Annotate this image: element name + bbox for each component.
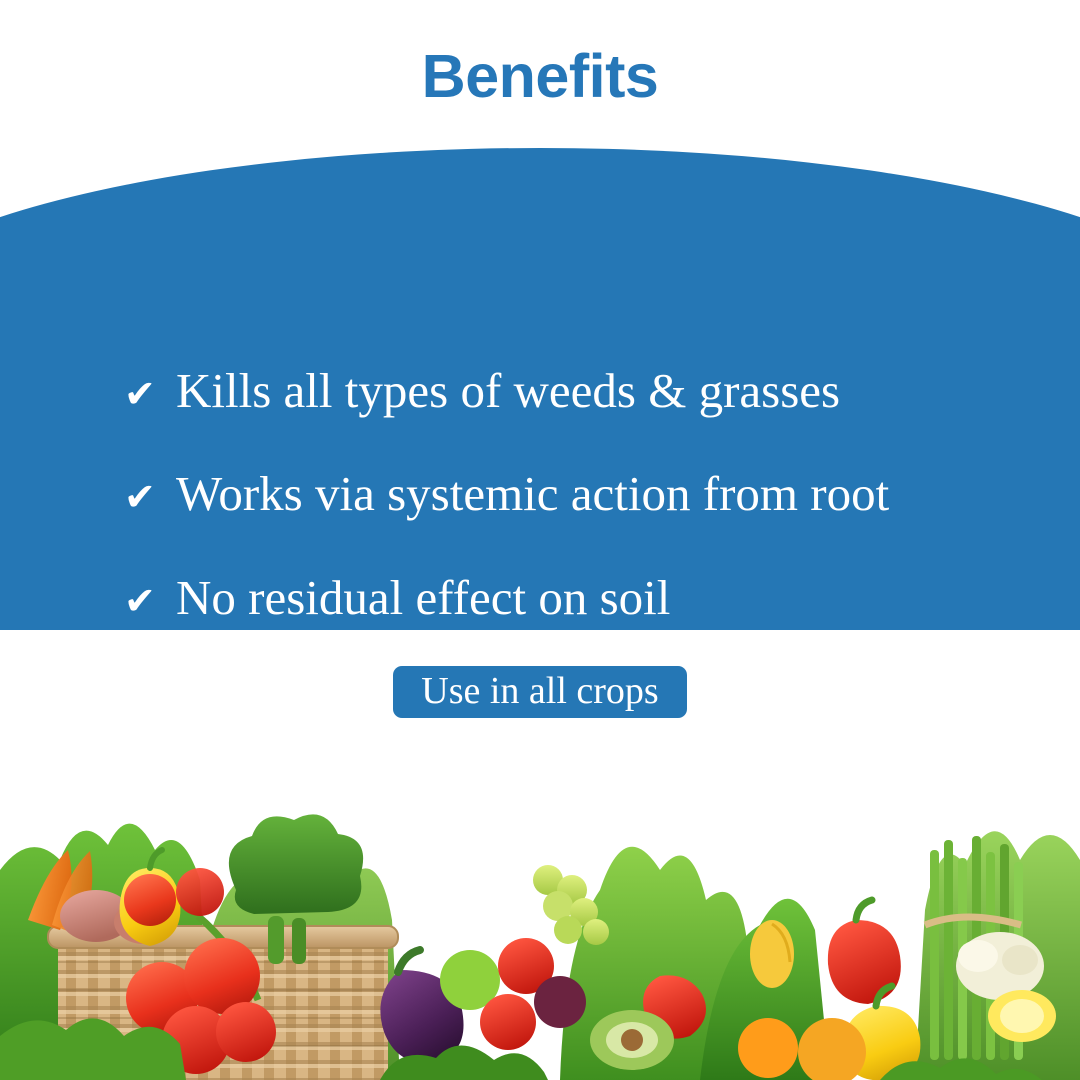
- benefits-list: ✔ Kills all types of weeds & grasses ✔ W…: [0, 140, 1080, 630]
- check-icon: ✔: [124, 582, 176, 620]
- list-item: ✔ No residual effect on soil: [124, 573, 670, 622]
- page-title: Benefits: [0, 44, 1080, 108]
- check-icon: ✔: [124, 478, 176, 516]
- list-item: ✔ Works via systemic action from root: [124, 469, 889, 518]
- use-in-all-crops-badge: Use in all crops: [393, 666, 687, 718]
- benefits-infographic: Benefits ✔ Kills all types of weeds & gr…: [0, 0, 1080, 1080]
- check-icon: ✔: [124, 375, 176, 413]
- list-item-label: No residual effect on soil: [176, 573, 670, 622]
- badge-label: Use in all crops: [421, 672, 658, 713]
- cauliflower: [956, 932, 1044, 1000]
- produce-illustration: [0, 740, 1080, 1080]
- list-item-label: Works via systemic action from root: [176, 469, 889, 518]
- check-icon: ✔: [124, 685, 176, 723]
- corn: [750, 920, 794, 988]
- produce-photo: [0, 740, 1080, 1080]
- list-item: ✔ Kills all types of weeds & grasses: [124, 366, 840, 415]
- list-item-label: Kills all types of weeds & grasses: [176, 366, 840, 415]
